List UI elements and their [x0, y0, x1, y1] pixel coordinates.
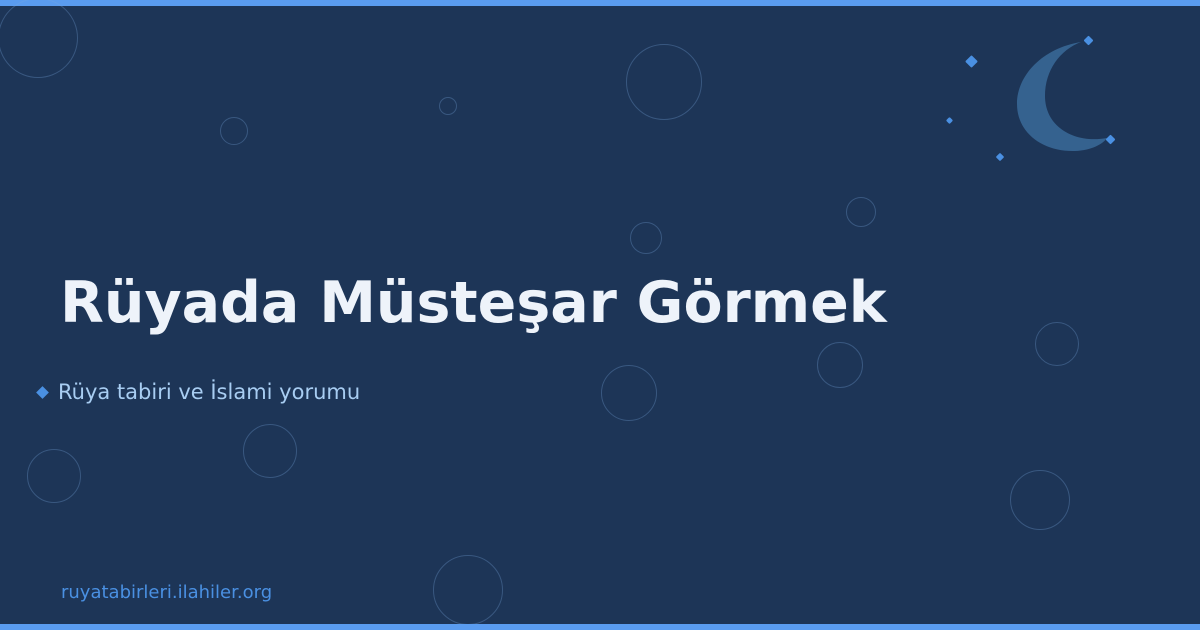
decorative-circle — [630, 222, 662, 254]
decorative-circle — [0, 0, 78, 78]
decorative-circle — [626, 44, 702, 120]
decorative-circle — [439, 97, 457, 115]
decorative-circle — [846, 197, 876, 227]
decorative-circle — [433, 555, 503, 625]
decorative-circle — [27, 449, 81, 503]
crescent-moon-icon — [1003, 38, 1107, 154]
decorative-circle — [220, 117, 248, 145]
decorative-circle — [1035, 322, 1079, 366]
page-subtitle: Rüya tabiri ve İslami yorumu — [58, 380, 360, 404]
diamond-bullet-icon — [36, 386, 49, 399]
share-card-canvas: Rüyada Müsteşar Görmek Rüya tabiri ve İs… — [0, 0, 1200, 630]
top-accent-bar — [0, 0, 1200, 6]
subtitle-row: Rüya tabiri ve İslami yorumu — [38, 380, 360, 404]
star-icon — [965, 55, 978, 68]
site-url: ruyatabirleri.ilahiler.org — [61, 582, 272, 603]
decorative-circle — [601, 365, 657, 421]
decorative-circle — [1010, 470, 1070, 530]
decorative-circle — [817, 342, 863, 388]
decorative-circle — [243, 424, 297, 478]
star-icon — [996, 153, 1004, 161]
star-icon — [945, 116, 952, 123]
bottom-accent-bar — [0, 624, 1200, 630]
page-title: Rüyada Müsteşar Görmek — [60, 272, 887, 335]
